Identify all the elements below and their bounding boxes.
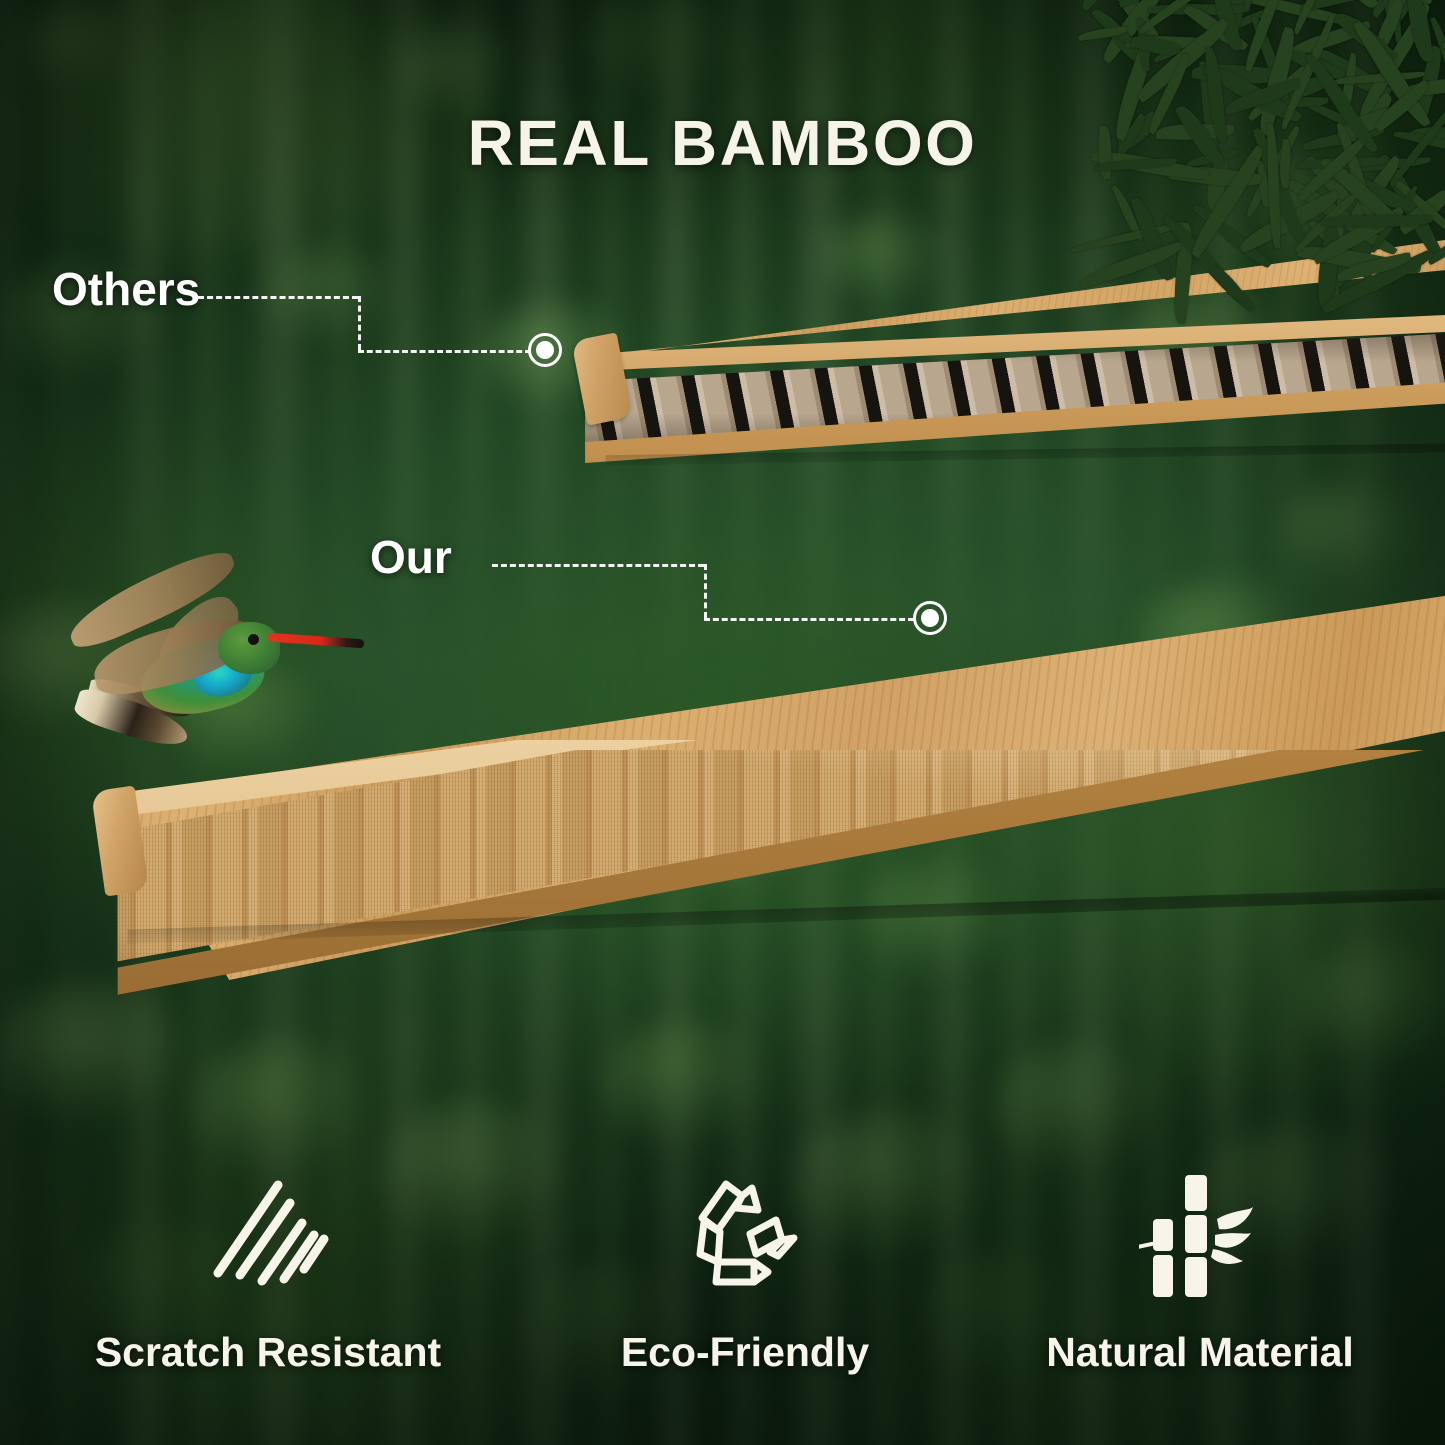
callout-our-leader-vertical (704, 564, 707, 618)
hummingbird (22, 556, 322, 792)
callout-our-leader-top (492, 564, 704, 567)
others-board-hollow-core (568, 236, 1445, 536)
page-title: REAL BAMBOO (0, 106, 1445, 180)
scratch-marks-icon (53, 1171, 483, 1303)
product-feature-image: REAL BAMBOO (0, 0, 1445, 1445)
callout-marker-icon-our (913, 601, 947, 635)
hummingbird-eye (248, 634, 259, 645)
feature-natural-material: Natural Material (985, 1171, 1415, 1376)
callout-label-others: Others (52, 262, 200, 316)
callout-others-leader-vertical (358, 296, 361, 350)
callout-our-leader-bottom (704, 618, 914, 621)
feature-label-scratch-resistant: Scratch Resistant (53, 1329, 483, 1376)
callout-others-leader-bottom (358, 350, 531, 353)
others-board-left-cap (571, 332, 633, 425)
feature-row: Scratch Resistant (0, 1171, 1445, 1401)
feature-scratch-resistant: Scratch Resistant (53, 1171, 483, 1376)
callout-marker-icon-others (528, 333, 562, 367)
feature-label-natural-material: Natural Material (985, 1329, 1415, 1376)
callout-label-our: Our (370, 530, 452, 584)
bamboo-stalk-icon (985, 1171, 1415, 1303)
feature-label-eco-friendly: Eco-Friendly (530, 1329, 960, 1376)
hummingbird-head (218, 622, 280, 674)
callout-others-leader-top (198, 296, 358, 299)
recycle-icon (530, 1171, 960, 1303)
feature-eco-friendly: Eco-Friendly (530, 1171, 960, 1376)
